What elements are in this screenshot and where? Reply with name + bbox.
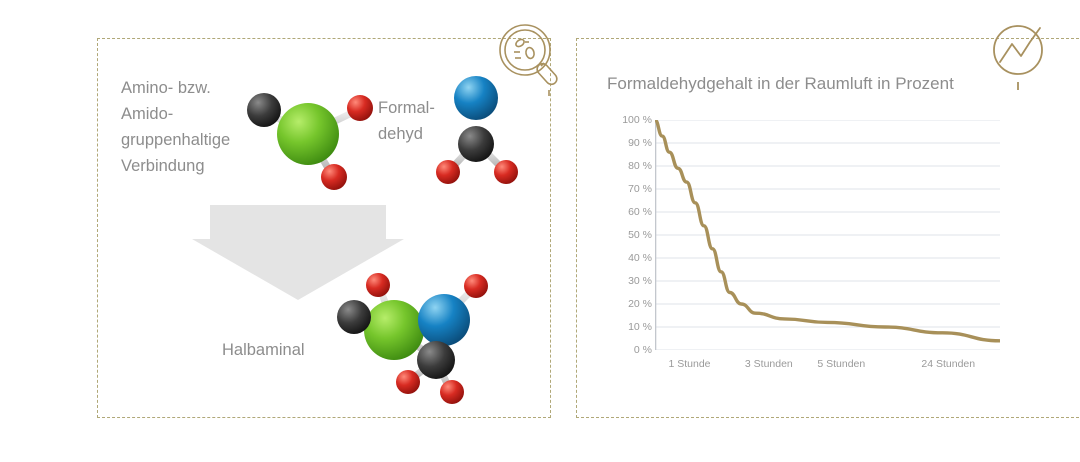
y-axis-tick: 40 %: [606, 252, 652, 264]
chart-title: Formaldehydgehalt in der Raumluft in Pro…: [607, 74, 954, 94]
x-axis-tick: 24 Stunden: [921, 358, 975, 370]
y-axis-tick: 90 %: [606, 137, 652, 149]
x-axis-tick: 1 Stunde: [668, 358, 710, 370]
y-axis-tick: 10 %: [606, 321, 652, 333]
y-axis-tick: 30 %: [606, 275, 652, 287]
x-axis-tick: 5 Stunden: [817, 358, 865, 370]
plot-area: [655, 120, 1000, 350]
x-axis-tick: 3 Stunden: [745, 358, 793, 370]
line-chart: 0 %10 %20 %30 %40 %50 %60 %70 %80 %90 %1…: [600, 120, 1000, 385]
y-axis-tick: 100 %: [606, 114, 652, 126]
molecule-amino-compound: [236, 82, 386, 194]
y-axis-tick: 60 %: [606, 206, 652, 218]
y-axis-tick: 0 %: [606, 344, 652, 356]
molecule-halbaminal: [326, 268, 510, 404]
y-axis: 0 %10 %20 %30 %40 %50 %60 %70 %80 %90 %1…: [600, 120, 652, 350]
y-axis-tick: 20 %: [606, 298, 652, 310]
y-axis-tick: 50 %: [606, 229, 652, 241]
chart-svg: [655, 120, 1000, 350]
y-axis-tick: 70 %: [606, 183, 652, 195]
y-axis-tick: 80 %: [606, 160, 652, 172]
molecule-formaldehyde: [432, 70, 524, 188]
